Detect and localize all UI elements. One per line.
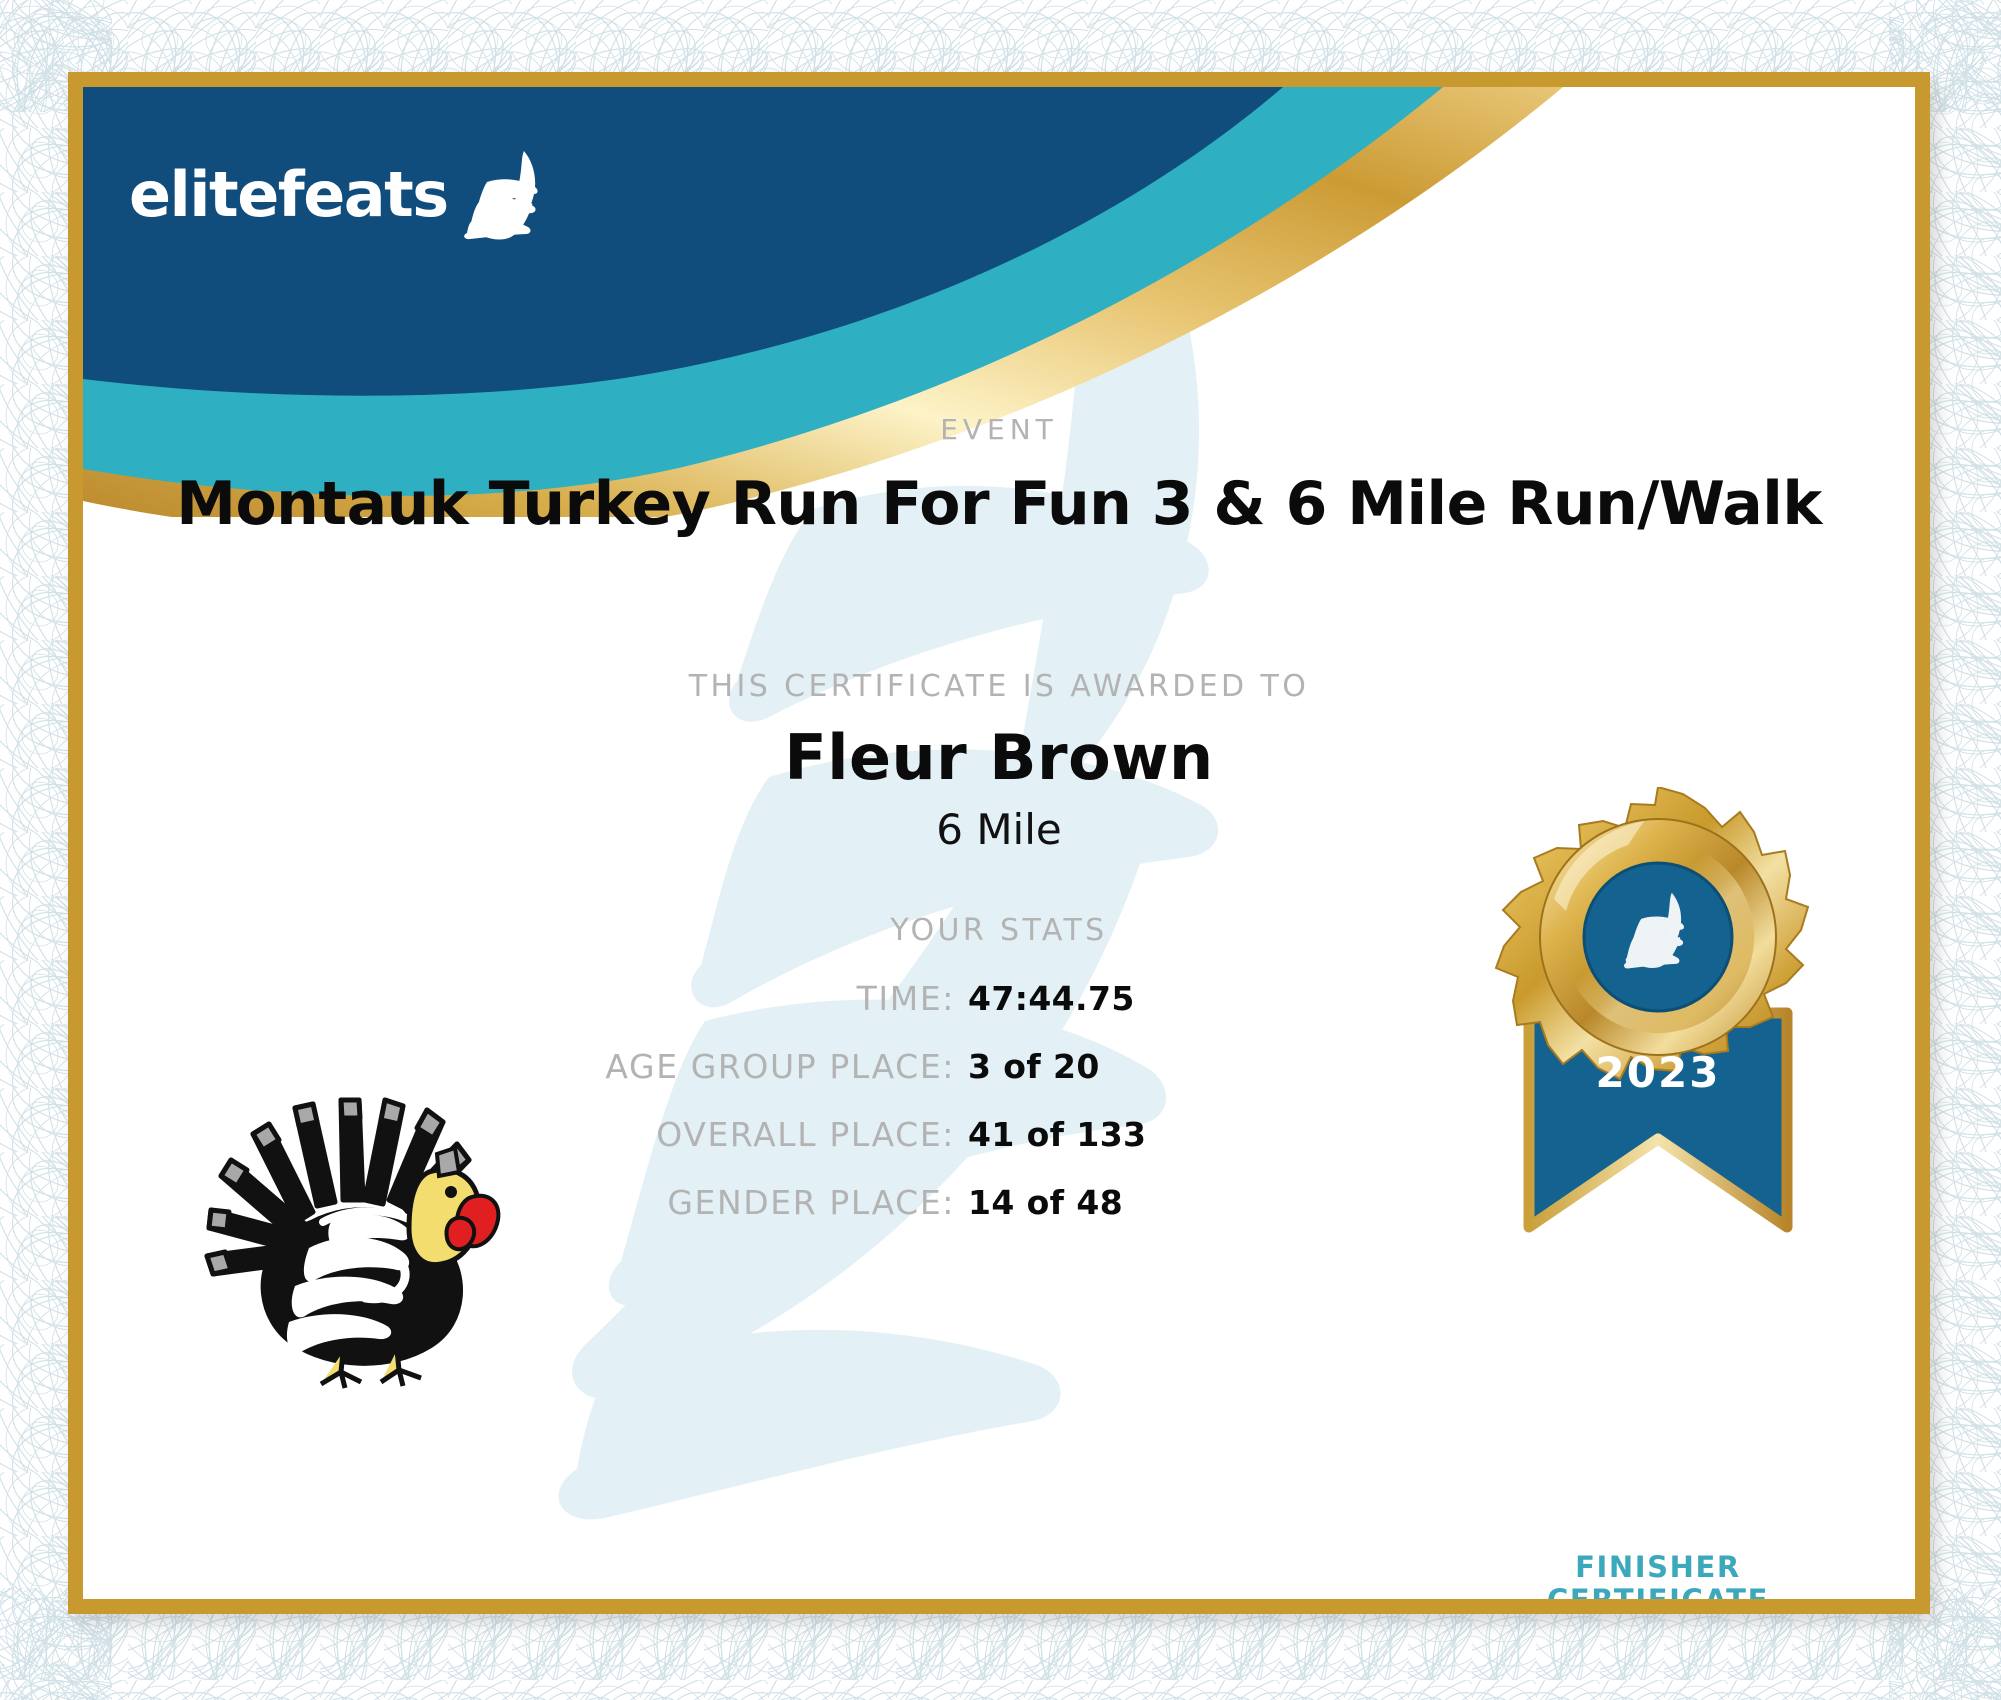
certificate-card: elitefeats EVENT Montauk Turkey Run For … [68,72,1930,1614]
stat-value: 14 of 48 [955,1183,1123,1222]
stat-label: TIME: [83,979,955,1018]
badge-caption-line1: FINISHER [1575,1550,1741,1584]
certificate-page: elitefeats EVENT Montauk Turkey Run For … [0,0,2001,1700]
badge-caption: FINISHER CERTIFICATE [1483,1551,1833,1599]
brand-wordmark: elitefeats [129,164,448,226]
recipient-name: Fleur Brown [83,721,1915,794]
badge-year: 2023 [1596,1048,1721,1097]
brand-logo: elitefeats [129,149,550,241]
stat-value: 41 of 133 [955,1115,1146,1154]
stat-row: TIME: 47:44.75 [83,979,1308,1025]
stat-value: 47:44.75 [955,979,1135,1018]
turkey-icon [183,1072,513,1392]
winged-foot-icon [454,149,550,241]
event-title: Montauk Turkey Run For Fun 3 & 6 Mile Ru… [83,469,1915,539]
badge-caption-line2: CERTIFICATE [1547,1583,1769,1599]
event-label: EVENT [83,413,1915,446]
awarded-to-label: THIS CERTIFICATE IS AWARDED TO [83,669,1915,704]
stat-value: 3 of 20 [955,1047,1100,1086]
finisher-badge-icon: 2023 [1493,787,1823,1407]
